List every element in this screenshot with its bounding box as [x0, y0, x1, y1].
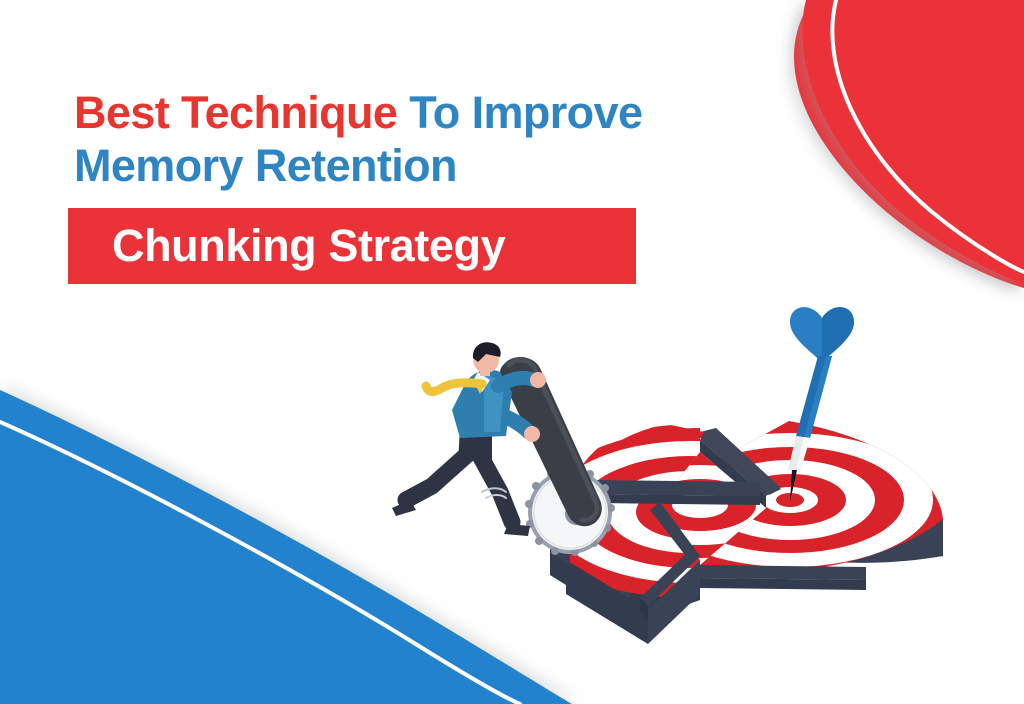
- subtitle-text: Chunking Strategy: [68, 222, 505, 270]
- businessman-back-hand: [524, 426, 540, 442]
- businessman-front-leg: [478, 452, 512, 522]
- businessman-front-arm: [498, 378, 534, 386]
- headline-line-1: Best Technique To Improve: [74, 86, 794, 139]
- dart-flight-shade: [822, 307, 854, 362]
- headline-blue-text-part1: To Improve: [397, 87, 642, 138]
- headline-red-text: Best Technique: [74, 87, 397, 138]
- businessman-front-hand: [530, 372, 546, 388]
- businessman-front-shoe: [504, 524, 530, 536]
- headline-block: Best Technique To Improve Memory Retenti…: [74, 86, 794, 192]
- running-businessman: [392, 342, 546, 536]
- poster-canvas: Best Technique To Improve Memory Retenti…: [0, 0, 1024, 704]
- headline-line-2: Memory Retention: [74, 139, 794, 192]
- subtitle-bar: Chunking Strategy: [68, 208, 636, 284]
